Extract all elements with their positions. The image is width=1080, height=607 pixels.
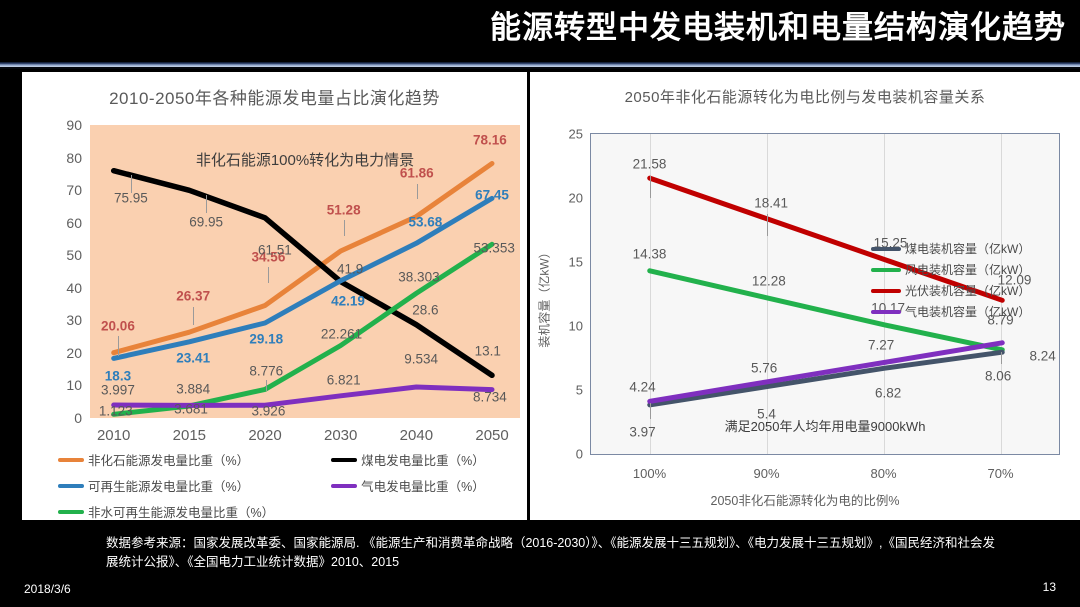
x-tick: 80%: [870, 466, 896, 481]
y-tick: 80: [66, 150, 82, 166]
slide-number: 13: [1043, 580, 1056, 594]
legend-item-renewable[interactable]: 可再生能源发电量比重（%）: [58, 476, 249, 495]
series-lines-left: [90, 125, 520, 418]
data-label: 38.303: [398, 270, 439, 285]
legend-item-wind-capacity[interactable]: 风电装机容量（亿kW）: [871, 261, 1030, 278]
data-label: 5.76: [751, 360, 777, 375]
data-label: 78.16: [473, 132, 507, 147]
data-label: 3.884: [176, 381, 210, 396]
data-label: 13.1: [475, 343, 501, 358]
data-label: 9.534: [404, 352, 438, 367]
capacity-annotation: 满足2050年人均年用电量9000kWh: [725, 416, 926, 435]
x-axis-title-right: 2050非化石能源转化为电的比例%: [711, 490, 900, 509]
data-label: 61.51: [258, 242, 292, 257]
x-tick: 70%: [987, 466, 1013, 481]
data-label: 51.28: [327, 202, 361, 217]
y-tick: 30: [66, 312, 82, 328]
data-label: 3.681: [174, 402, 208, 417]
data-label: 18.41: [754, 195, 788, 210]
series-line-gas-capacity: [650, 343, 1003, 402]
legend-label: 煤电发电量比重（%）: [361, 450, 485, 469]
page-title: 能源转型中发电装机和电量结构演化趋势: [490, 4, 1066, 52]
legend-label: 可再生能源发电量比重（%）: [88, 476, 249, 495]
legend-swatch-icon: [58, 458, 84, 462]
legend-swatch-icon: [871, 268, 901, 272]
chart-legend-left: 非化石能源发电量比重（%） 煤电发电量比重（%） 可再生能源发电量比重（%） 气…: [58, 450, 518, 520]
legend-item-nonhydro-renewable[interactable]: 非水可再生能源发电量比重（%）: [58, 502, 274, 520]
data-label: 53.68: [408, 214, 442, 229]
data-label: 8.24: [1029, 349, 1055, 364]
data-label: 22.261: [321, 327, 362, 342]
y-tick: 15: [569, 255, 583, 270]
leader-line: [344, 220, 345, 236]
slide-date: 2018/3/6: [24, 582, 71, 596]
data-label: 18.3: [105, 368, 131, 383]
legend-swatch-icon: [58, 484, 84, 488]
y-axis-title-right: 装机容量（亿kW）: [536, 246, 553, 347]
y-tick: 10: [569, 319, 583, 334]
data-label: 4.24: [629, 379, 655, 394]
header-accent-rule-shadow: [0, 67, 1080, 69]
series-line-coal-capacity: [650, 352, 1003, 405]
legend-swatch-icon: [331, 484, 357, 488]
data-label: 1.123: [99, 403, 133, 418]
leader-line: [131, 175, 132, 193]
data-label: 75.95: [114, 191, 148, 206]
plot-area-left: 0 10 20 30 40 50 60 70 80 90 2010 2015 2…: [90, 125, 520, 418]
data-label: 20.06: [101, 318, 135, 333]
data-label: 26.37: [176, 289, 210, 304]
leader-line: [417, 184, 418, 199]
data-label: 53.353: [474, 241, 515, 256]
legend-swatch-icon: [331, 458, 357, 462]
data-label: 21.58: [633, 157, 667, 172]
chart-panel-left: 2010-2050年各种能源发电量占比演化趋势 0 10 20 30 40 50…: [22, 72, 527, 520]
x-tick: 2020: [248, 427, 281, 444]
chart-title-left: 2010-2050年各种能源发电量占比演化趋势: [22, 84, 527, 109]
x-tick: 2010: [97, 427, 130, 444]
x-tick: 2030: [324, 427, 357, 444]
chart-title-right: 2050年非化石能源转化为电比例与发电装机容量关系: [530, 86, 1080, 107]
x-tick: 2015: [173, 427, 206, 444]
y-tick: 20: [569, 191, 583, 206]
data-label: 8.776: [249, 364, 283, 379]
legend-item-gas-capacity[interactable]: 气电装机容量（亿kW）: [871, 303, 1030, 320]
data-label: 8.06: [985, 368, 1011, 383]
x-tick: 100%: [633, 466, 666, 481]
slide-root: 能源转型中发电装机和电量结构演化趋势 2010-2050年各种能源发电量占比演化…: [0, 0, 1080, 607]
data-label: 28.6: [412, 302, 438, 317]
legend-swatch-icon: [58, 510, 84, 514]
leader-line: [206, 195, 207, 213]
data-label: 3.926: [252, 403, 286, 418]
y-tick: 50: [66, 247, 82, 263]
legend-item-pv-capacity[interactable]: 光伏装机容量（亿kW）: [871, 282, 1030, 299]
data-label: 67.45: [475, 188, 509, 203]
legend-item-coal[interactable]: 煤电发电量比重（%）: [331, 450, 485, 469]
legend-item-coal-capacity[interactable]: 煤电装机容量（亿kW）: [871, 240, 1030, 257]
y-tick: 5: [576, 383, 583, 398]
data-label: 3.97: [629, 424, 655, 439]
data-label: 6.821: [327, 372, 361, 387]
leader-line: [118, 336, 119, 356]
y-tick: 0: [576, 447, 583, 462]
plot-area-right: 0 5 10 15 20 25 100% 90% 80% 70%: [590, 133, 1060, 455]
chart-panel-right: 2050年非化石能源转化为电比例与发电装机容量关系 装机容量（亿kW） 0 5 …: [530, 72, 1080, 520]
leader-line: [650, 403, 651, 419]
legend-label: 非化石能源发电量比重（%）: [88, 450, 249, 469]
legend-item-nonfossil[interactable]: 非化石能源发电量比重（%）: [58, 450, 249, 469]
y-tick: 0: [74, 410, 82, 426]
leader-line: [266, 380, 267, 391]
y-tick: 60: [66, 215, 82, 231]
y-tick: 90: [66, 117, 82, 133]
y-tick: 20: [66, 345, 82, 361]
leader-line: [193, 307, 194, 325]
x-tick: 2050: [475, 427, 508, 444]
series-line-nonfossil: [114, 164, 492, 353]
legend-swatch-icon: [871, 289, 901, 293]
data-label: 41.9: [337, 261, 363, 276]
leader-line: [1001, 352, 1002, 364]
legend-label: 非水可再生能源发电量比重（%）: [88, 502, 274, 520]
leader-line: [650, 176, 651, 198]
legend-label: 风电装机容量（亿kW）: [905, 261, 1030, 278]
legend-swatch-icon: [871, 247, 901, 251]
slide-header: 能源转型中发电装机和电量结构演化趋势: [0, 0, 1080, 60]
leader-line: [767, 214, 768, 236]
y-tick: 70: [66, 182, 82, 198]
data-label: 42.19: [331, 293, 365, 308]
legend-swatch-icon: [871, 310, 901, 314]
y-tick: 10: [66, 377, 82, 393]
data-label: 23.41: [176, 350, 210, 365]
leader-line: [268, 267, 269, 283]
legend-label: 气电发电量比重（%）: [361, 476, 485, 495]
y-tick: 25: [569, 127, 583, 142]
x-tick: 90%: [753, 466, 779, 481]
data-label: 12.28: [752, 274, 786, 289]
data-label: 3.997: [101, 383, 135, 398]
series-line-gas-visible: [114, 387, 492, 405]
chart-legend-right: 煤电装机容量（亿kW） 风电装机容量（亿kW） 光伏装机容量（亿kW） 气电装机…: [871, 240, 1030, 324]
legend-label: 煤电装机容量（亿kW）: [905, 240, 1030, 257]
source-footnote: 数据参考来源：国家发展改革委、国家能源局. 《能源生产和消费革命战略（2016-…: [106, 534, 1006, 572]
y-tick: 40: [66, 280, 82, 296]
data-label: 61.86: [400, 166, 434, 181]
data-label: 69.95: [189, 214, 223, 229]
data-label: 7.27: [868, 338, 894, 353]
x-tick: 2040: [400, 427, 433, 444]
data-label: 8.734: [473, 390, 507, 405]
legend-item-gas[interactable]: 气电发电量比重（%）: [331, 476, 485, 495]
legend-label: 气电装机容量（亿kW）: [905, 303, 1030, 320]
data-label: 14.38: [633, 247, 667, 262]
data-label: 29.18: [249, 331, 283, 346]
legend-label: 光伏装机容量（亿kW）: [905, 282, 1030, 299]
data-label: 6.82: [875, 386, 901, 401]
